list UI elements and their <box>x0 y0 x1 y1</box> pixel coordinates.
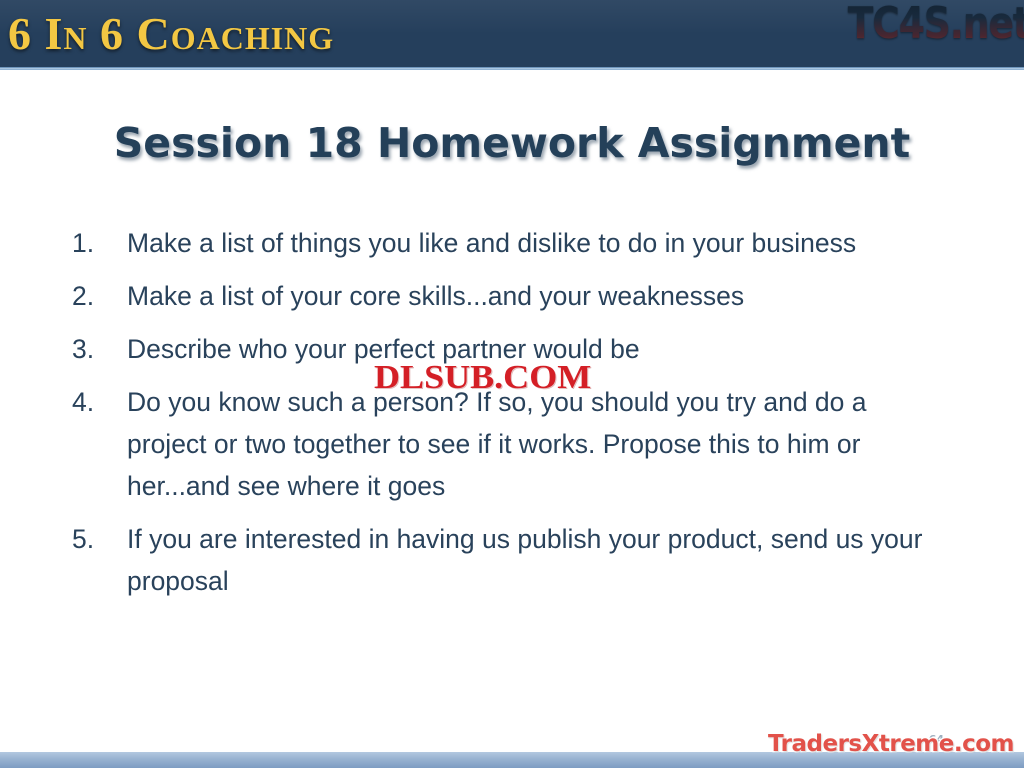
footer-logo[interactable]: TradersXtreme.com <box>768 730 1014 758</box>
page-title: Session 18 Homework Assignment <box>0 118 1024 168</box>
list-item-number: 2. <box>72 275 127 317</box>
list-item-number: 4. <box>72 381 127 423</box>
homework-list: 1. Make a list of things you like and di… <box>72 222 952 613</box>
brand-title: 6 In 6 Coaching <box>8 6 334 62</box>
list-item-text: If you are interested in having us publi… <box>127 518 952 602</box>
dlsub-watermark: DLSUB.COM <box>374 360 591 396</box>
list-item-text: Make a list of things you like and disli… <box>127 222 952 264</box>
list-item-text: Do you know such a person? If so, you sh… <box>127 381 952 507</box>
header-banner: 6 In 6 Coaching TC4S.net <box>0 0 1024 70</box>
list-item: 1. Make a list of things you like and di… <box>72 222 952 264</box>
list-item: 5. If you are interested in having us pu… <box>72 518 952 602</box>
list-item: 2. Make a list of your core skills...and… <box>72 275 952 317</box>
list-item-text: Make a list of your core skills...and yo… <box>127 275 952 317</box>
list-item-number: 3. <box>72 328 127 370</box>
list-item-number: 1. <box>72 222 127 264</box>
list-item: 4. Do you know such a person? If so, you… <box>72 381 952 507</box>
list-item-number: 5. <box>72 518 127 560</box>
site-logo[interactable]: TC4S.net <box>848 0 1024 52</box>
